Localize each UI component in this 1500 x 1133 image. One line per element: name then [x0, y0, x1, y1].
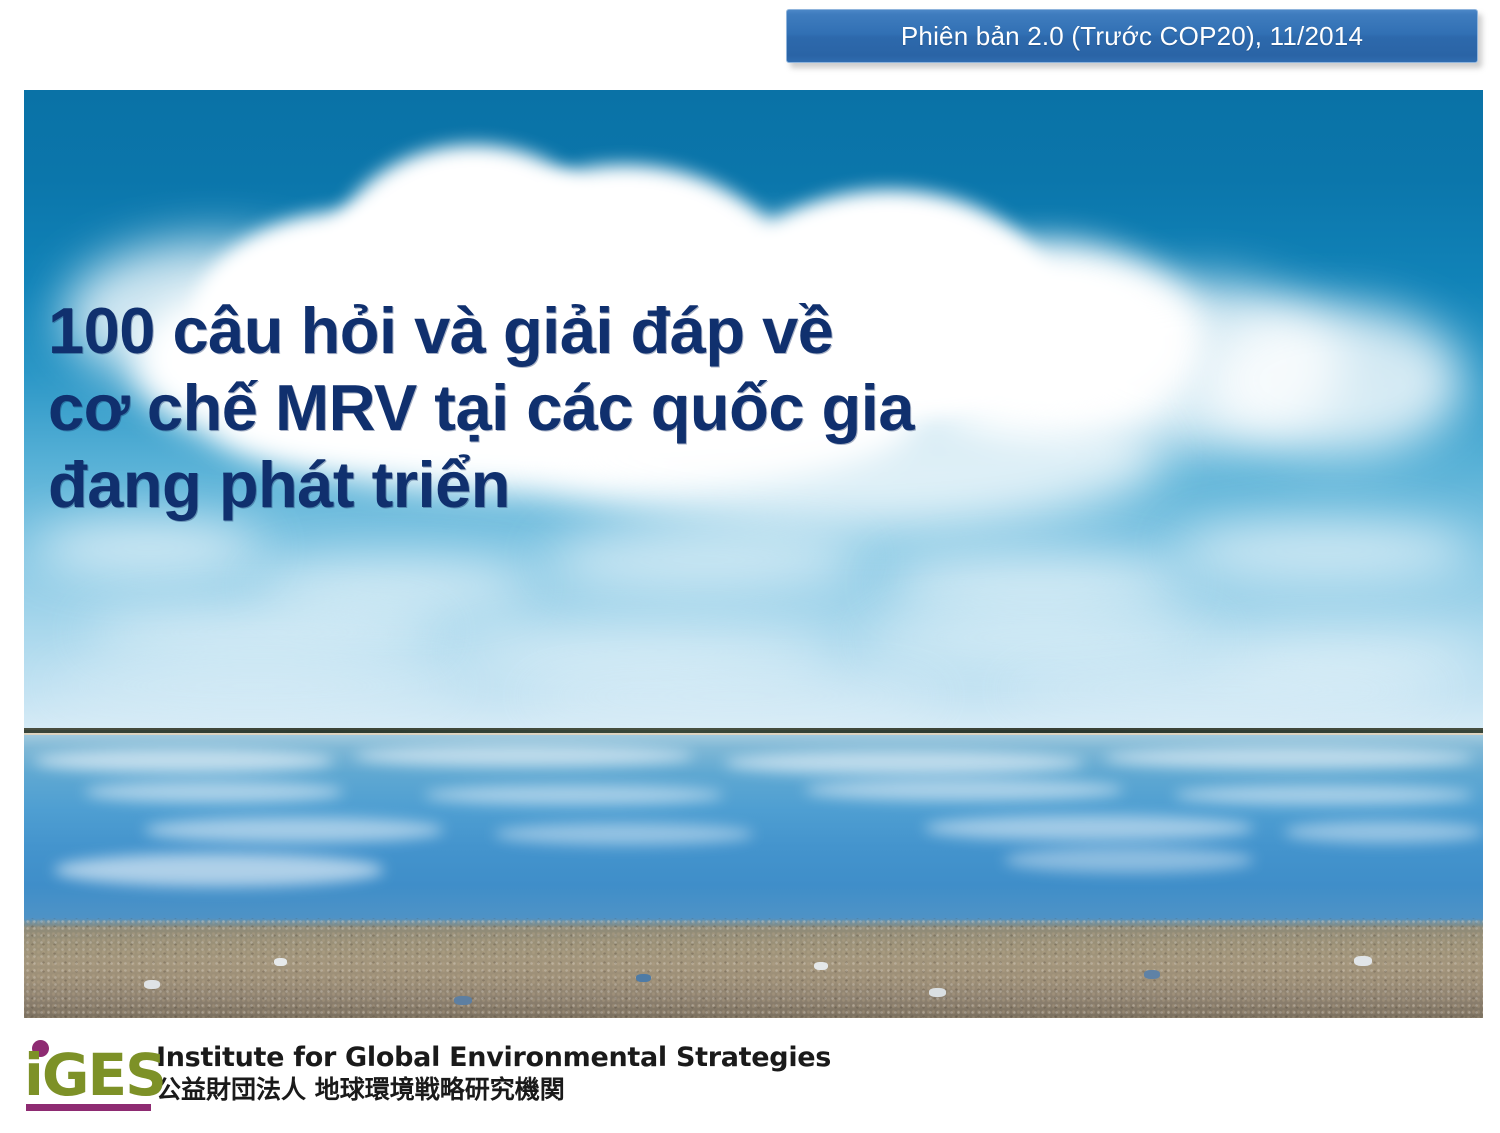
cloud-shape	[34, 520, 264, 575]
cloud-reflection	[1004, 847, 1254, 873]
shell-speck	[1144, 970, 1160, 979]
iges-english-name: Institute for Global Environmental Strat…	[156, 1042, 831, 1074]
cloud-reflection	[144, 817, 444, 843]
photo-sand-region	[24, 918, 1483, 1018]
title-line-2: cơ chế MRV tại các quốc gia	[48, 369, 1358, 446]
slide-title: 100 câu hỏi và giải đáp về cơ chế MRV tạ…	[48, 292, 1358, 523]
shell-speck	[454, 996, 472, 1005]
cloud-shape	[1204, 635, 1483, 675]
cloud-shape	[544, 530, 864, 590]
cloud-shape	[1174, 520, 1474, 580]
cloud-shape	[864, 615, 1224, 660]
cloud-shape	[1004, 675, 1444, 705]
cloud-shape	[44, 670, 464, 702]
iges-japanese-name: 公益財団法人 地球環境戦略研究機関	[156, 1074, 831, 1105]
shell-speck	[929, 988, 946, 997]
shell-speck	[636, 974, 651, 982]
cloud-shape	[524, 682, 944, 710]
cloud-shape	[884, 555, 1184, 610]
shell-speck	[144, 980, 160, 989]
shell-speck	[274, 958, 287, 966]
cloud-reflection	[724, 751, 1084, 775]
cloud-reflection	[1104, 747, 1474, 769]
cloud-reflection	[34, 749, 334, 773]
title-line-3: đang phát triển	[48, 446, 1358, 523]
sand-texture	[24, 918, 1483, 1018]
cloud-reflection	[494, 823, 754, 845]
cloud-reflection	[924, 815, 1254, 841]
cloud-reflection	[354, 745, 694, 767]
title-line-1: 100 câu hỏi và giải đáp về	[48, 292, 1358, 369]
version-banner: Phiên bản 2.0 (Trước COP20), 11/2014	[786, 9, 1478, 63]
cloud-reflection	[424, 785, 724, 805]
cloud-reflection	[1174, 785, 1474, 805]
cloud-reflection	[84, 781, 344, 803]
version-banner-label: Phiên bản 2.0 (Trước COP20), 11/2014	[901, 21, 1363, 52]
shell-speck	[1354, 956, 1372, 966]
cloud-reflection	[1284, 821, 1483, 843]
iges-logo-text-block: Institute for Global Environmental Strat…	[156, 1040, 831, 1105]
iges-underline-accent	[26, 1104, 151, 1111]
iges-logo: iGES Institute for Global Environmental …	[24, 1040, 831, 1122]
cloud-shape	[84, 610, 444, 655]
iges-wordmark-text: iGES	[24, 1046, 165, 1104]
iges-wordmark-icon: iGES	[24, 1040, 152, 1116]
cloud-shape	[454, 630, 834, 672]
cloud-reflection	[54, 853, 384, 887]
shell-speck	[814, 962, 828, 970]
cloud-shape	[254, 560, 534, 610]
cloud-reflection	[804, 779, 1124, 801]
background-photo	[24, 90, 1483, 1018]
